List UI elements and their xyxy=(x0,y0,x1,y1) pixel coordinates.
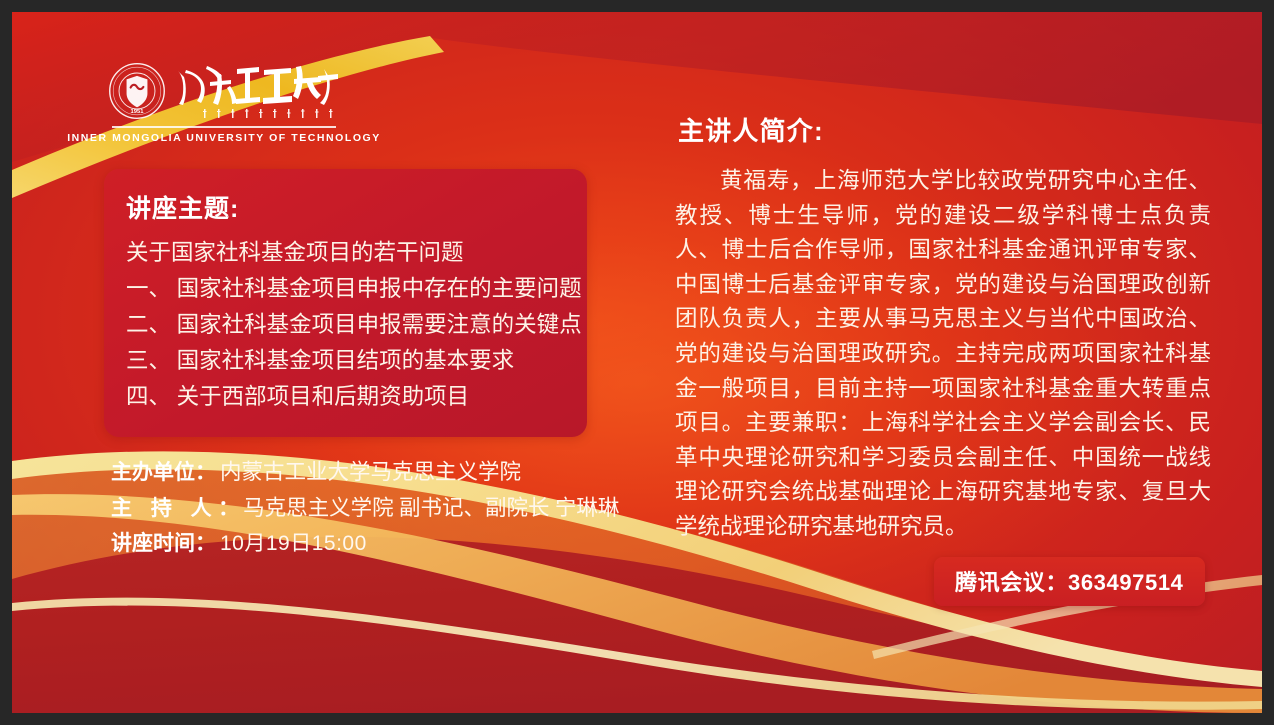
topic-item-2: 二、 国家社科基金项目申报需要注意的关键点 xyxy=(126,307,565,343)
organizer-value: 内蒙古工业大学马克思主义学院 xyxy=(220,455,521,486)
topic-item-1: 一、 国家社科基金项目申报中存在的主要问题 xyxy=(126,271,565,307)
topic-item-3: 三、 国家社科基金项目结项的基本要求 xyxy=(126,343,565,379)
lecture-poster: 1951 xyxy=(12,12,1262,713)
lecture-meta-block: 主办单位 ： 内蒙古工业大学马克思主义学院 主 持 人 ： 马克思主义学院 副书… xyxy=(111,455,731,562)
speaker-section-heading: 主讲人简介: xyxy=(678,111,824,148)
organizer-label: 主办单位 xyxy=(111,456,195,486)
university-wordmark-icon xyxy=(175,62,340,120)
host-label: 主 持 人 xyxy=(111,492,218,522)
logo-row: 1951 xyxy=(108,62,340,120)
host-row: 主 持 人 ： 马克思主义学院 副书记、副院长 宁琳琳 xyxy=(111,491,731,522)
logo-divider xyxy=(112,126,336,128)
speaker-biography: 黄福寿，上海师范大学比较政党研究中心主任、教授、博士生导师，党的建设二级学科博士… xyxy=(675,164,1211,545)
university-logo: 1951 xyxy=(108,62,340,144)
time-row: 讲座时间 ： 10月19日15:00 xyxy=(111,527,731,557)
wave-bright-filament xyxy=(12,598,1262,710)
organizer-row: 主办单位 ： 内蒙古工业大学马克思主义学院 xyxy=(111,455,731,486)
inmu-seal-emblem-icon: 1951 xyxy=(108,62,166,120)
topic-heading: 讲座主题: xyxy=(126,189,565,225)
time-label: 讲座时间 xyxy=(111,527,195,557)
time-colon: ： xyxy=(195,527,216,557)
tencent-meeting-badge[interactable]: 腾讯会议：363497514 xyxy=(934,557,1205,606)
topic-subject: 关于国家社科基金项目的若干问题 xyxy=(126,235,565,271)
topic-item-4: 四、 关于西部项目和后期资助项目 xyxy=(126,379,565,415)
lecture-topic-card: 讲座主题: 关于国家社科基金项目的若干问题 一、 国家社科基金项目申报中存在的主… xyxy=(104,169,587,437)
emblem-year: 1951 xyxy=(131,109,145,115)
university-name-english: INNER MONGOLIA UNIVERSITY OF TECHNOLOGY xyxy=(67,132,381,144)
organizer-colon: ： xyxy=(195,456,216,486)
screenshot-canvas: 1951 xyxy=(0,0,1274,725)
host-value: 马克思主义学院 副书记、副院长 宁琳琳 xyxy=(243,491,619,522)
host-colon: ： xyxy=(218,492,239,522)
time-value: 10月19日15:00 xyxy=(220,527,367,557)
